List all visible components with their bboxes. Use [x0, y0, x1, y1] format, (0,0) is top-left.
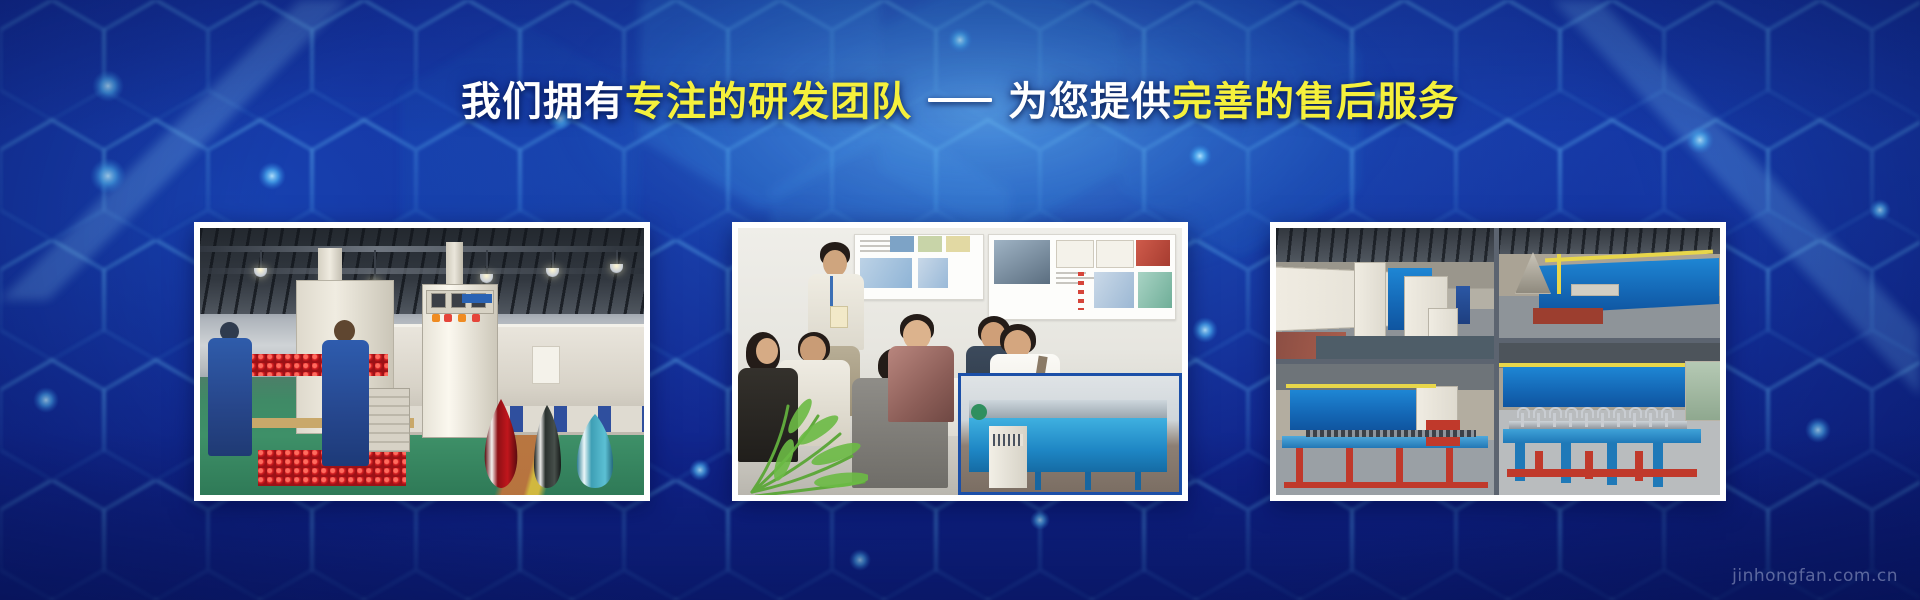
indicator-light [444, 314, 452, 322]
lamp-stem [486, 250, 488, 274]
hook-stem [1665, 413, 1668, 427]
poster-certificate [1056, 240, 1094, 268]
lamp-stem [552, 250, 554, 268]
worker-uniform [1456, 286, 1470, 324]
poster-photo [890, 236, 914, 252]
machine-green-wheel [971, 404, 987, 420]
control-panel-duct [446, 242, 463, 286]
worker-head [334, 320, 355, 342]
glass-vase-black [530, 403, 565, 489]
plastic-crate [368, 388, 410, 452]
hook-stem [1617, 413, 1620, 427]
conveyor-leg [1396, 448, 1403, 486]
headline-segment-yellow-2: 完善的售后服务 [1172, 79, 1459, 125]
machine-leg [1135, 472, 1141, 490]
conveyor-leg [1446, 448, 1453, 486]
workshop-roof [1276, 228, 1494, 262]
equipment-label [462, 294, 492, 303]
platform-leg [1607, 443, 1617, 485]
photo-frame-equipment-collage[interactable] [1270, 222, 1726, 501]
collage-cell-blue-furnace [1499, 228, 1720, 338]
id-badge [830, 306, 848, 328]
headline-separator-dash [928, 98, 992, 102]
lanyard [830, 276, 833, 306]
hook-stem [1649, 413, 1652, 427]
hook-stem [1585, 413, 1588, 427]
person-head [756, 338, 778, 364]
collage-cell-tunnel-white [1276, 228, 1494, 359]
conveyor-leg [1296, 448, 1303, 486]
indicator-light [458, 314, 466, 322]
yellow-overhead-pipe [1286, 384, 1436, 388]
conveyor-base-rail [1284, 482, 1488, 488]
poster-red-dots-column [1078, 272, 1084, 310]
lamp-stem [616, 250, 618, 264]
lamp-stem [374, 250, 376, 280]
hook-stem [1521, 413, 1524, 427]
palm-plant [748, 396, 868, 495]
blue-oven-upper [1503, 367, 1689, 407]
headline-segment-yellow-1: 专注的研发团队 [625, 79, 912, 125]
red-cross-brace [1535, 451, 1543, 477]
poster-photo-color [1136, 240, 1170, 266]
conveyor-leg [1346, 448, 1353, 486]
person-seated-woman [888, 346, 954, 422]
photo-frame-production-line[interactable] [194, 222, 650, 501]
roof-beam [200, 246, 644, 252]
collage-cell-hook-line [1499, 343, 1720, 495]
poster-diagram [1138, 272, 1172, 308]
green-control-cabinet [1685, 361, 1720, 421]
promo-banner: 我们拥有专注的研发团队为您提供完善的售后服务 [0, 0, 1920, 600]
red-cross-brace [1585, 451, 1593, 479]
photo-team-meeting [738, 228, 1182, 495]
red-cross-brace [1635, 451, 1643, 481]
photo-equipment-collage [1276, 228, 1720, 495]
photo-frame-team-meeting[interactable] [732, 222, 1188, 501]
poster-diagram [1094, 272, 1134, 308]
line-platform [1503, 429, 1701, 443]
poster-diagram [918, 258, 948, 288]
glass-vase-blue [574, 411, 616, 489]
hook-stem [1569, 413, 1572, 427]
poster-text-line [860, 250, 894, 252]
headline-segment-white-1: 我们拥有 [461, 79, 625, 125]
platform-leg [1561, 443, 1571, 483]
indicator-light [432, 314, 440, 322]
worker-left [208, 338, 252, 456]
worker-right [322, 340, 369, 466]
machine-leg [1085, 472, 1091, 490]
indicator-light [472, 314, 480, 322]
collage-cell-conveyor [1276, 364, 1494, 495]
page-title: 我们拥有专注的研发团队为您提供完善的售后服务 [0, 78, 1920, 126]
hook-stem [1633, 413, 1636, 427]
yellow-overhead-pipe [1499, 363, 1699, 367]
gauge-dial [431, 293, 446, 308]
headline-segment-white-2: 为您提供 [1008, 79, 1172, 125]
machine-leg [1035, 472, 1041, 490]
photo-gallery [0, 222, 1920, 501]
blue-oven-body [1290, 390, 1430, 430]
valve-manifold [1571, 284, 1619, 296]
poster-photo-factory [994, 240, 1050, 284]
poster-text-line [1056, 277, 1094, 279]
furnace-base [1533, 308, 1603, 324]
site-watermark: jinhongfan.com.cn [1732, 566, 1898, 586]
platform-leg [1653, 443, 1663, 487]
hook-stem [1601, 413, 1604, 427]
photo-production-line [200, 228, 644, 495]
poster-photo [946, 236, 970, 252]
inset-machinery-photo [958, 373, 1182, 495]
lamp-stem [260, 250, 262, 268]
poster-certificate [1096, 240, 1134, 268]
poster-photo [918, 236, 942, 252]
machine-upper-frame [969, 400, 1167, 418]
floor-surface [1316, 336, 1494, 359]
hook-rail [1509, 421, 1687, 429]
hook-stem [1537, 413, 1540, 427]
person-head [823, 250, 847, 277]
yellow-gas-riser [1557, 254, 1561, 294]
wall-document [532, 346, 560, 384]
chain-track [1306, 430, 1476, 437]
control-cabinet-buttons [993, 434, 1023, 446]
white-control-cabinet [1354, 262, 1386, 340]
glass-vase-red [482, 397, 520, 489]
hook-stem [1553, 413, 1556, 427]
poster-diagram [860, 258, 912, 288]
